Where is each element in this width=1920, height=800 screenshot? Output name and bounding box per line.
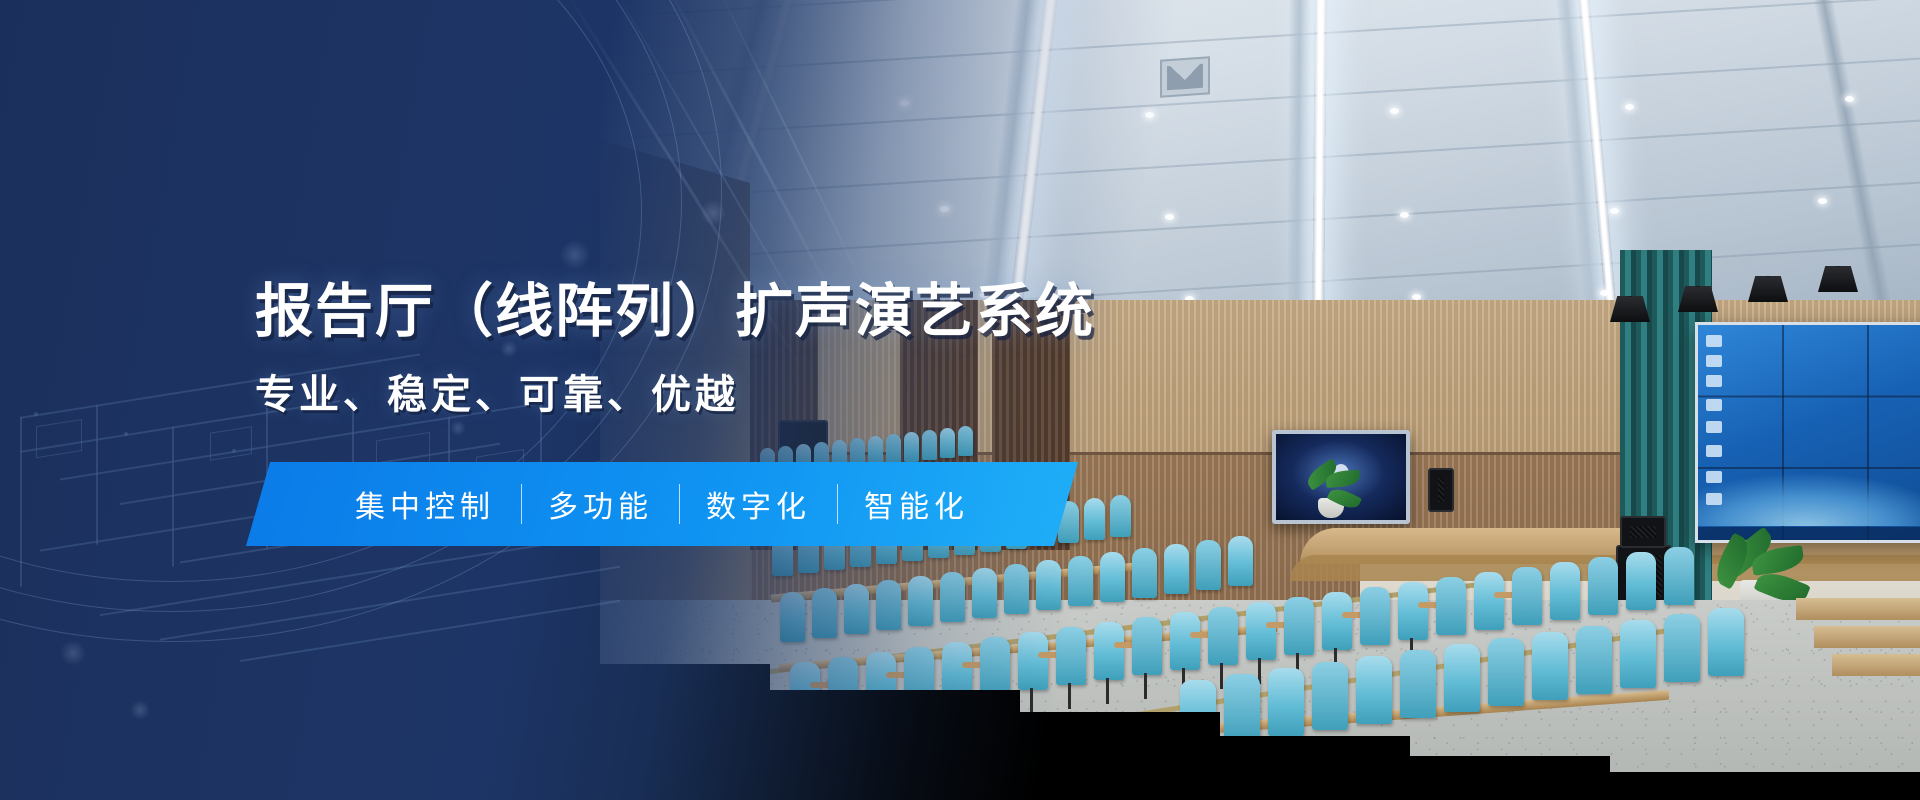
- banner-subtitle: 专业、稳定、可靠、优越: [255, 375, 739, 415]
- feature-tag: 智能化: [838, 482, 995, 526]
- banner-content: 报告厅（线阵列）扩声演艺系统 专业、稳定、可靠、优越 集中控制 多功能 数字化 …: [0, 0, 1920, 800]
- banner-title: 报告厅（线阵列）扩声演艺系统: [255, 282, 1095, 340]
- feature-tag: 数字化: [680, 482, 837, 526]
- feature-tag-list: 集中控制 多功能 数字化 智能化: [258, 462, 1066, 546]
- feature-tag: 集中控制: [329, 482, 521, 526]
- hero-banner: 报告厅（线阵列）扩声演艺系统 专业、稳定、可靠、优越 集中控制 多功能 数字化 …: [0, 0, 1920, 800]
- feature-tag: 多功能: [522, 482, 679, 526]
